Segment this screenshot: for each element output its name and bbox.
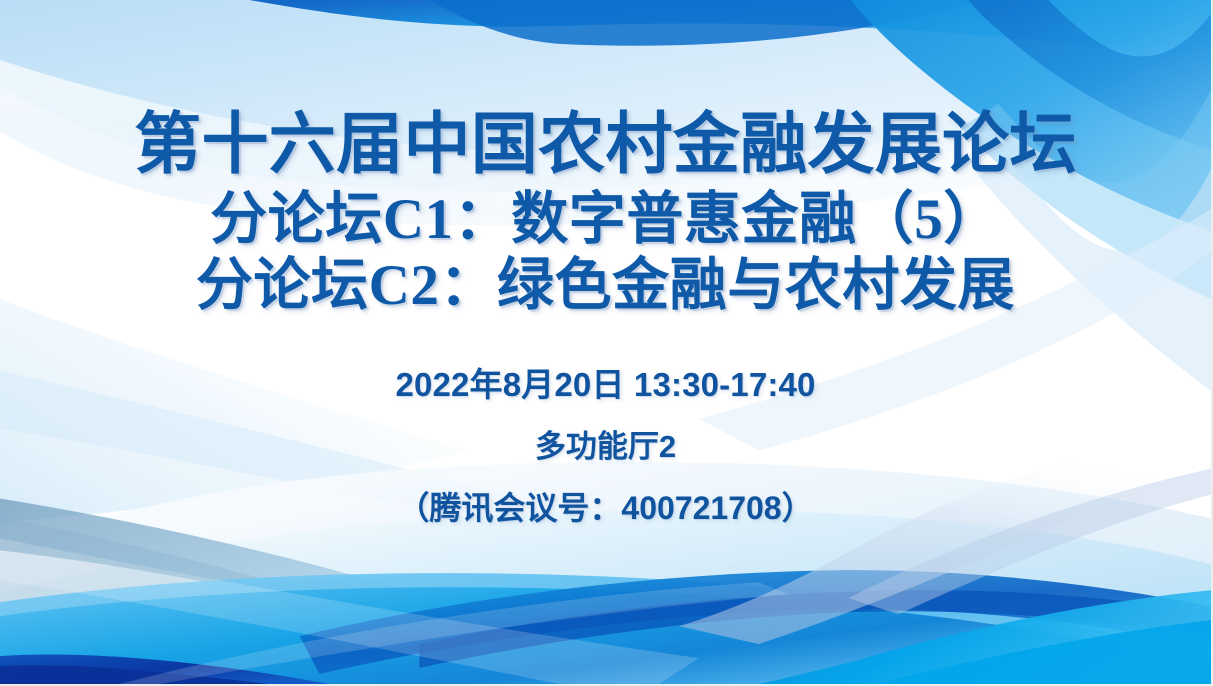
subtitle-forum-c2: 分论坛C2：绿色金融与农村发展 — [0, 257, 1211, 314]
subtitle-forum-c1: 分论坛C1：数字普惠金融（5） — [0, 191, 1211, 248]
headline-group: 第十六届中国农村金融发展论坛 分论坛C1：数字普惠金融（5） 分论坛C2：绿色金… — [0, 112, 1211, 323]
details-group: 2022年8月20日 13:30-17:40 多功能厅2 （腾讯会议号：4007… — [0, 368, 1211, 524]
event-datetime: 2022年8月20日 13:30-17:40 — [0, 368, 1211, 401]
slide-content: 第十六届中国农村金融发展论坛 分论坛C1：数字普惠金融（5） 分论坛C2：绿色金… — [0, 0, 1211, 684]
main-title: 第十六届中国农村金融发展论坛 — [0, 112, 1211, 179]
conference-title-slide: 第十六届中国农村金融发展论坛 分论坛C1：数字普惠金融（5） 分论坛C2：绿色金… — [0, 0, 1213, 686]
event-venue: 多功能厅2 — [0, 431, 1211, 462]
online-meeting-number: （腾讯会议号：400721708） — [0, 492, 1211, 524]
